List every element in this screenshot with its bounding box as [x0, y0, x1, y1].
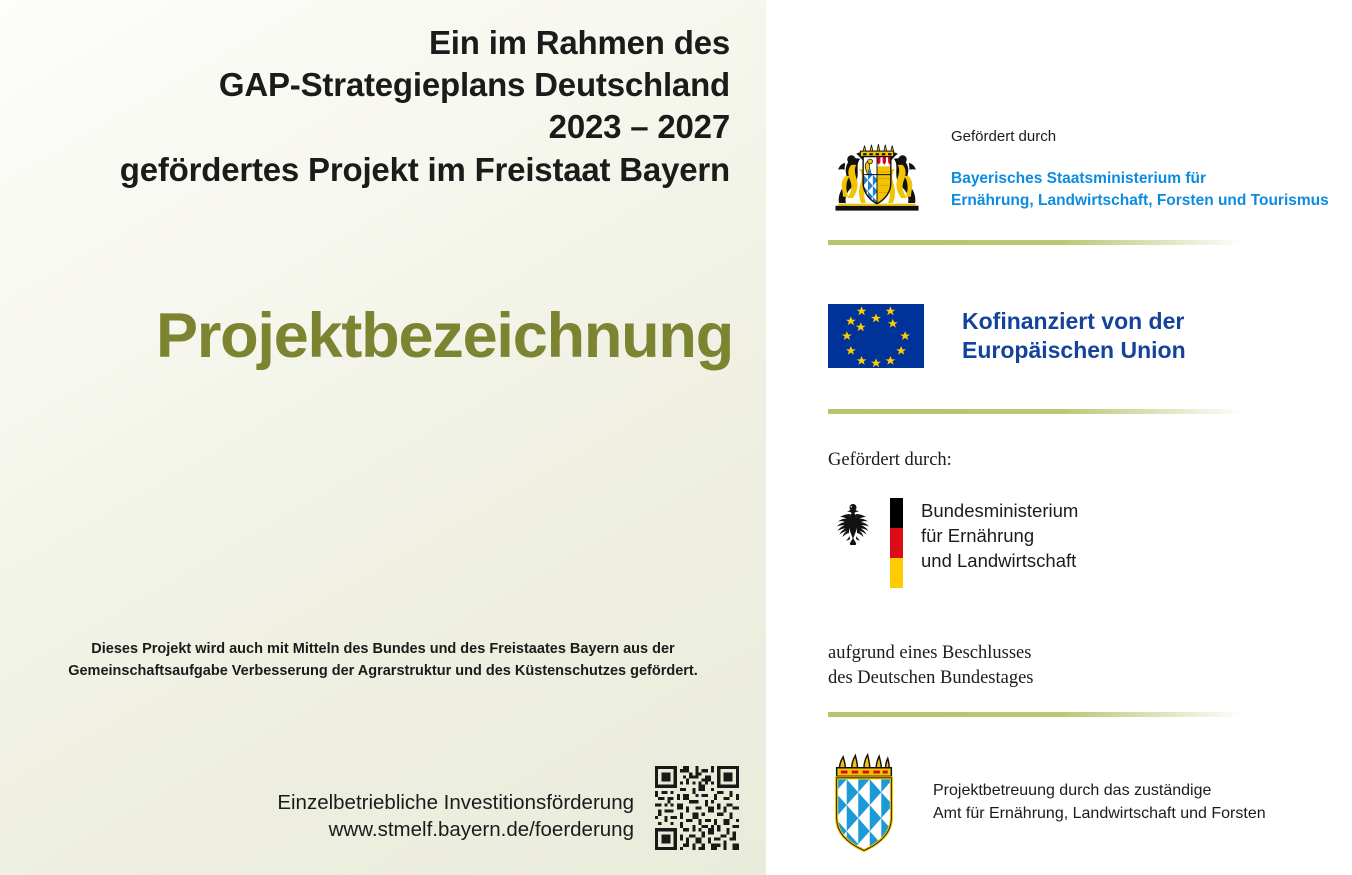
divider-1 — [828, 240, 1244, 245]
bmel-logo-block: Bundesministerium für Ernährung und Land… — [828, 498, 1078, 588]
headline-line-1: Ein im Rahmen des — [30, 22, 730, 64]
bmel-name-line-3: und Landwirtschaft — [921, 549, 1078, 574]
eu-text-line-2: Europäischen Union — [962, 336, 1186, 365]
european-union-flag-icon — [828, 304, 924, 368]
headline-line-2: GAP-Strategieplans Deutschland — [30, 64, 730, 106]
program-label: Einzelbetriebliche Investitionsförderung — [277, 789, 634, 816]
bmel-name: Bundesministerium für Ernährung und Land… — [921, 499, 1078, 573]
stmelf-name-line-1: Bayerisches Staatsministerium für — [951, 168, 1329, 190]
federal-eagle-icon — [828, 501, 878, 549]
bmel-name-line-1: Bundesministerium — [921, 499, 1078, 524]
bavarian-coat-of-arms-icon — [828, 140, 926, 212]
aelf-logo-block: Projektbetreuung durch das zuständige Am… — [828, 753, 1266, 853]
stmelf-logo-block: Gefördert durch Bayerisches Staatsminist… — [828, 128, 1329, 212]
eu-text: Kofinanziert von der Europäischen Union — [962, 307, 1186, 365]
bundestag-line-1: aufgrund eines Beschlusses — [828, 641, 1034, 666]
aelf-text: Projektbetreuung durch das zuständige Am… — [933, 780, 1266, 825]
bundestag-note: aufgrund eines Beschlusses des Deutschen… — [828, 641, 1034, 691]
divider-3 — [828, 712, 1244, 717]
stmelf-text: Gefördert durch Bayerisches Staatsminist… — [951, 128, 1329, 212]
funding-note-line-2: Gemeinschaftsaufgabe Verbesserung der Ag… — [28, 661, 738, 683]
poster: Ein im Rahmen des GAP-Strategieplans Deu… — [0, 0, 1352, 875]
aelf-text-line-2: Amt für Ernährung, Landwirtschaft und Fo… — [933, 803, 1266, 826]
left-panel: Ein im Rahmen des GAP-Strategieplans Deu… — [0, 0, 766, 875]
headline-line-4: gefördertes Projekt im Freistaat Bayern — [30, 149, 730, 191]
qr-code[interactable] — [652, 763, 742, 853]
eu-text-line-1: Kofinanziert von der — [962, 307, 1186, 336]
divider-2 — [828, 409, 1244, 414]
funding-note-line-1: Dieses Projekt wird auch mit Mitteln des… — [28, 639, 738, 661]
stmelf-lead-label: Gefördert durch — [951, 128, 1329, 146]
bundestag-line-2: des Deutschen Bundestages — [828, 666, 1034, 691]
stmelf-name: Bayerisches Staatsministerium für Ernähr… — [951, 168, 1329, 212]
stmelf-name-line-2: Ernährung, Landwirtschaft, Forsten und T… — [951, 190, 1329, 212]
bmel-lead-label: Gefördert durch: — [828, 450, 952, 471]
project-title: Projektbezeichnung — [40, 305, 733, 368]
funding-note: Dieses Projekt wird auch mit Mitteln des… — [28, 639, 738, 683]
bavaria-state-shield-icon — [828, 753, 900, 853]
footer-text: Einzelbetriebliche Investitionsförderung… — [277, 789, 652, 854]
footer-block: Einzelbetriebliche Investitionsförderung… — [0, 753, 766, 853]
bmel-name-line-2: für Ernährung — [921, 524, 1078, 549]
german-flag-bar-icon — [890, 498, 903, 588]
aelf-text-line-1: Projektbetreuung durch das zuständige — [933, 780, 1266, 803]
eu-logo-block: Kofinanziert von der Europäischen Union — [828, 304, 1186, 368]
headline-line-3: 2023 – 2027 — [30, 106, 730, 148]
program-url[interactable]: www.stmelf.bayern.de/foerderung — [277, 816, 634, 843]
headline: Ein im Rahmen des GAP-Strategieplans Deu… — [30, 22, 730, 191]
